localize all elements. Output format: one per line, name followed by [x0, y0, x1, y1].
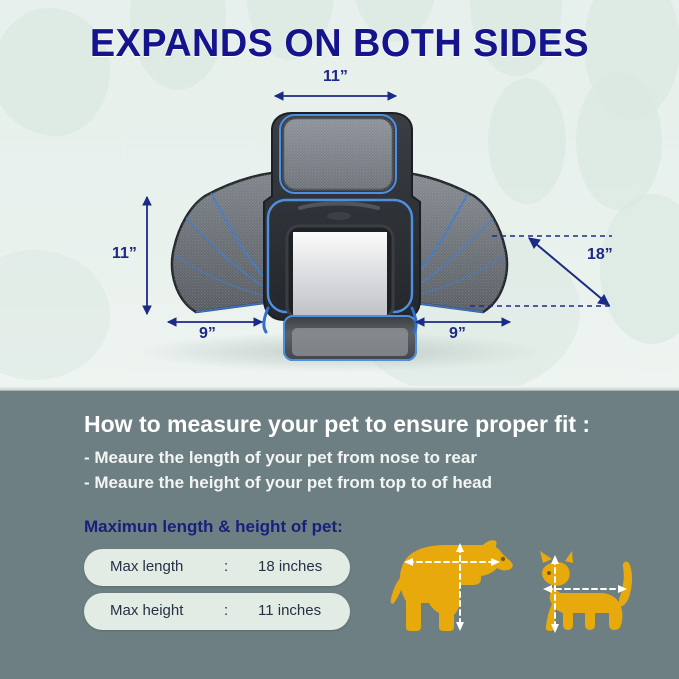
max-height-value: 11 inches	[258, 602, 321, 619]
dimension-label-left-height: 11”	[112, 245, 137, 263]
dimension-label-top-width: 11”	[323, 68, 348, 86]
max-length-label: Max length	[110, 558, 183, 575]
pet-carrier-illustration	[0, 0, 679, 391]
max-length-colon: :	[224, 558, 228, 575]
measurement-guide-section: How to measure your pet to ensure proper…	[0, 391, 679, 679]
max-length-row: Max length : 18 inches	[84, 549, 350, 586]
dimension-label-right-depth: 9”	[449, 325, 466, 343]
max-height-colon: :	[224, 602, 228, 619]
dimension-label-left-depth: 9”	[199, 325, 216, 343]
carrier-main-body	[264, 113, 420, 320]
instruction-bullet: - Meaure the length of your pet from nos…	[84, 448, 477, 468]
front-flap	[284, 316, 416, 360]
dog-silhouette-icon	[388, 527, 518, 642]
max-height-label: Max height	[110, 602, 183, 619]
instruction-bullet: - Meaure the height of your pet from top…	[84, 473, 492, 493]
dimension-label-diagonal: 18”	[587, 246, 613, 264]
max-length-value: 18 inches	[258, 558, 322, 575]
infographic-page: EXPANDS ON BOTH SIDES	[0, 0, 679, 679]
product-illustration-section: EXPANDS ON BOTH SIDES	[0, 0, 679, 391]
max-height-row: Max height : 11 inches	[84, 593, 350, 630]
cat-silhouette-icon	[503, 527, 635, 642]
howto-heading: How to measure your pet to ensure proper…	[84, 411, 590, 438]
max-dimensions-heading: Maximun length & height of pet:	[84, 517, 343, 537]
